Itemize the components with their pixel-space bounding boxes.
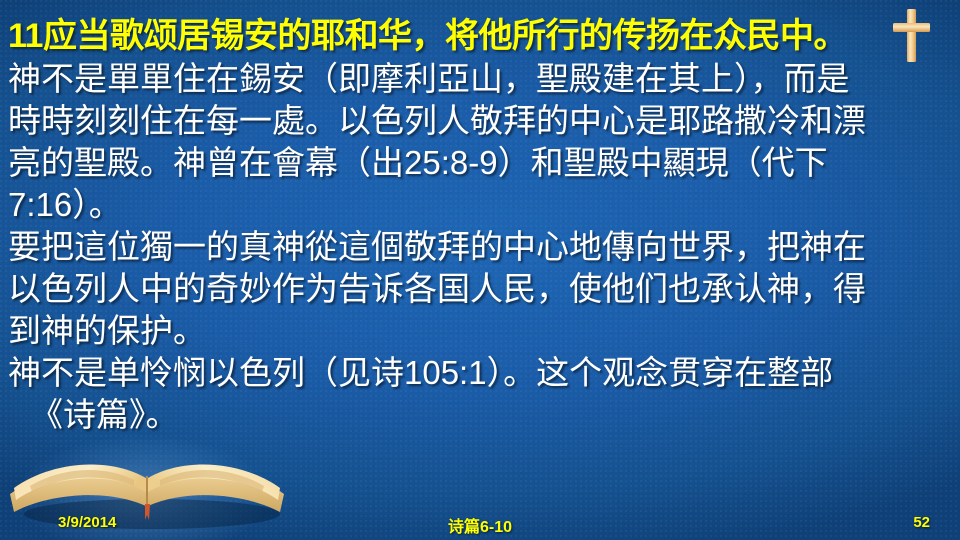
- body-line-3: 亮的聖殿。神曾在會幕（出25:8-9）和聖殿中顯現（代下: [8, 142, 952, 184]
- body-line-4: 7:16）。: [8, 184, 952, 226]
- presentation-slide: 11应当歌颂居锡安的耶和华，将他所行的传扬在众民中。 神不是單單住在錫安（即摩利…: [0, 0, 960, 540]
- slide-page-number: 52: [913, 514, 930, 531]
- verse-line: 11应当歌颂居锡安的耶和华，将他所行的传扬在众民中。: [8, 14, 952, 58]
- body-line-7: 到神的保护。: [8, 310, 952, 352]
- body-line-8: 神不是单怜悯以色列（见诗105:1）。这个观念贯穿在整部: [8, 352, 952, 394]
- body-line-5: 要把這位獨一的真神從這個敬拜的中心地傳向世界，把神在: [8, 226, 952, 268]
- body-line-2: 時時刻刻住在每一處。以色列人敬拜的中心是耶路撒冷和漂: [8, 100, 952, 142]
- slide-text-body: 11应当歌颂居锡安的耶和华，将他所行的传扬在众民中。 神不是單單住在錫安（即摩利…: [8, 14, 952, 436]
- body-line-6: 以色列人中的奇妙作为告诉各国人民，使他们也承认神，得: [8, 268, 952, 310]
- slide-footer-title: 诗篇6-10: [0, 513, 960, 537]
- body-line-1: 神不是單單住在錫安（即摩利亞山，聖殿建在其上），而是: [8, 58, 952, 100]
